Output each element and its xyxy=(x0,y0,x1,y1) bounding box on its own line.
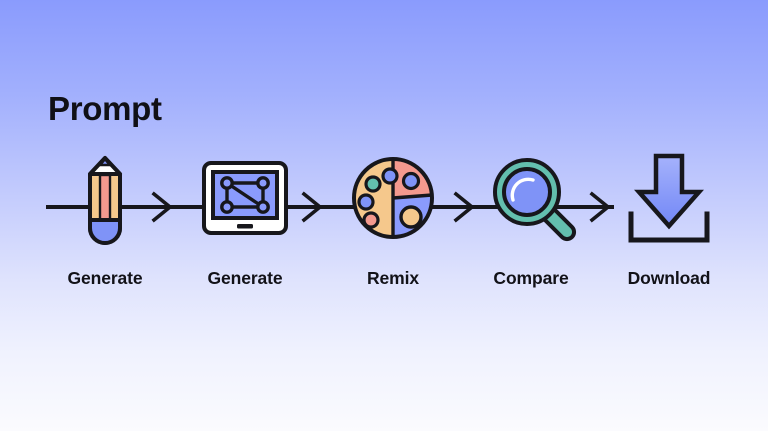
pencil-icon xyxy=(57,150,153,246)
magnifying-glass-icon xyxy=(485,150,581,246)
chevron-right-arrow-icon xyxy=(150,190,174,224)
flow-step-label-download: Download xyxy=(584,268,754,289)
chevron-right-arrow-icon xyxy=(588,190,612,224)
slide-canvas: Prompt xyxy=(0,0,768,431)
chevron-right-arrow-icon xyxy=(300,190,324,224)
paint-palette-icon xyxy=(345,150,441,246)
flow-step-compare[interactable] xyxy=(485,150,581,266)
flow-step-label-generate-2: Generate xyxy=(160,268,330,289)
monitor-nodes-icon xyxy=(197,150,293,246)
download-arrow-icon xyxy=(621,150,717,246)
flow-step-generate-1[interactable] xyxy=(57,150,153,266)
page-title: Prompt xyxy=(48,92,162,125)
flow-step-download[interactable] xyxy=(621,150,717,266)
chevron-right-arrow-icon xyxy=(452,190,476,224)
flow-step-remix[interactable] xyxy=(345,150,441,266)
flow-step-generate-2[interactable] xyxy=(197,150,293,266)
